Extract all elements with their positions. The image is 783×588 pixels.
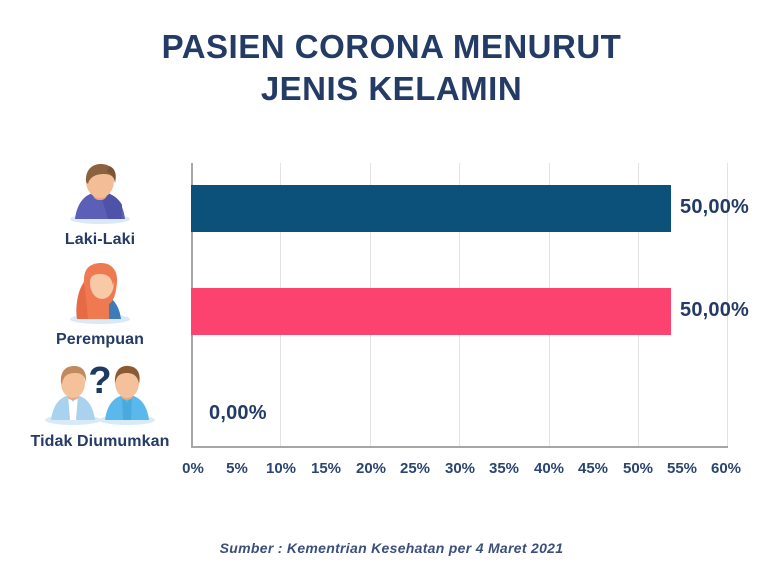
x-tick-5: 25% [400, 460, 430, 477]
x-tick-10: 50% [623, 460, 653, 477]
bar-value-laki-laki: 50,00% [680, 196, 749, 219]
x-tick-7: 35% [489, 460, 519, 477]
bar-value-tidak-diumumkan: 0,00% [209, 402, 267, 425]
category-row-tidak-diumumkan: ? Tidak Diumumkan [10, 362, 190, 451]
source-note: Sumber : Kementrian Kesehatan per 4 Mare… [0, 540, 783, 556]
x-tick-3: 15% [311, 460, 341, 477]
bar-perempuan [191, 288, 671, 335]
x-tick-12: 60% [711, 460, 741, 477]
x-tick-8: 40% [534, 460, 564, 477]
bar-laki-laki [191, 185, 671, 232]
x-tick-11: 55% [667, 460, 697, 477]
female-avatar-icon [10, 262, 190, 329]
page-title: PASIEN CORONA MENURUT JENIS KELAMIN [0, 26, 783, 110]
x-axis-line [191, 446, 728, 448]
svg-text:?: ? [88, 362, 111, 402]
bar-value-perempuan: 50,00% [680, 299, 749, 322]
category-label-perempuan: Perempuan [10, 331, 190, 349]
x-tick-0: 0% [182, 460, 204, 477]
category-label-laki-laki: Laki-Laki [10, 231, 190, 249]
x-tick-1: 5% [226, 460, 248, 477]
unknown-gender-avatars-icon: ? [10, 362, 190, 431]
category-row-laki-laki: Laki-Laki [10, 162, 190, 249]
page-title-line-2: JENIS KELAMIN [0, 68, 783, 110]
category-row-perempuan: Perempuan [10, 262, 190, 349]
category-label-tidak-diumumkan: Tidak Diumumkan [10, 433, 190, 451]
x-tick-2: 10% [266, 460, 296, 477]
chart-plot-area: 50,00% 50,00% 0,00% [191, 163, 728, 448]
x-tick-6: 30% [445, 460, 475, 477]
x-tick-9: 45% [578, 460, 608, 477]
male-avatar-icon [10, 162, 190, 229]
page-title-line-1: PASIEN CORONA MENURUT [0, 26, 783, 68]
x-tick-4: 20% [356, 460, 386, 477]
x-axis-tick-labels: 0% 5% 10% 15% 20% 25% 30% 35% 40% 45% 50… [191, 460, 728, 484]
